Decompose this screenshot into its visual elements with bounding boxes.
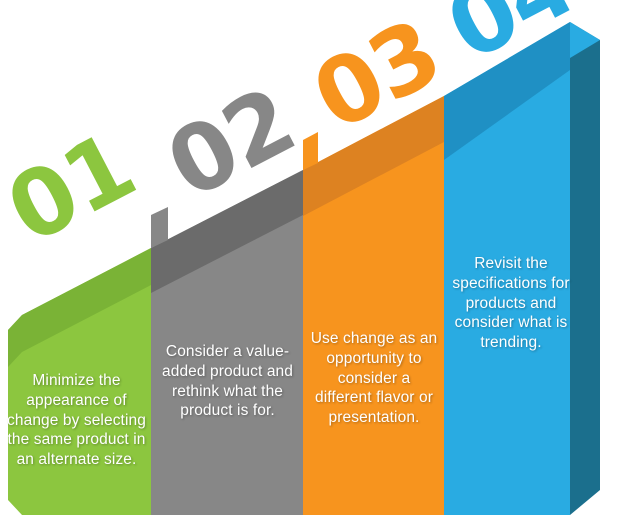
step-2-caption: Consider a value-added product and rethi…	[156, 342, 299, 421]
step-1-caption: Minimize the appearance of change by sel…	[4, 371, 149, 470]
infographic-root: 01 02 03 04 Minimiz	[0, 0, 617, 528]
step-block-2[interactable]: 02	[151, 67, 310, 515]
step-4-caption: Revisit the specifications for products …	[447, 254, 575, 353]
step-block-3[interactable]: 03	[297, 0, 456, 515]
step-3-caption: Use change as an opportunity to consider…	[308, 329, 440, 428]
